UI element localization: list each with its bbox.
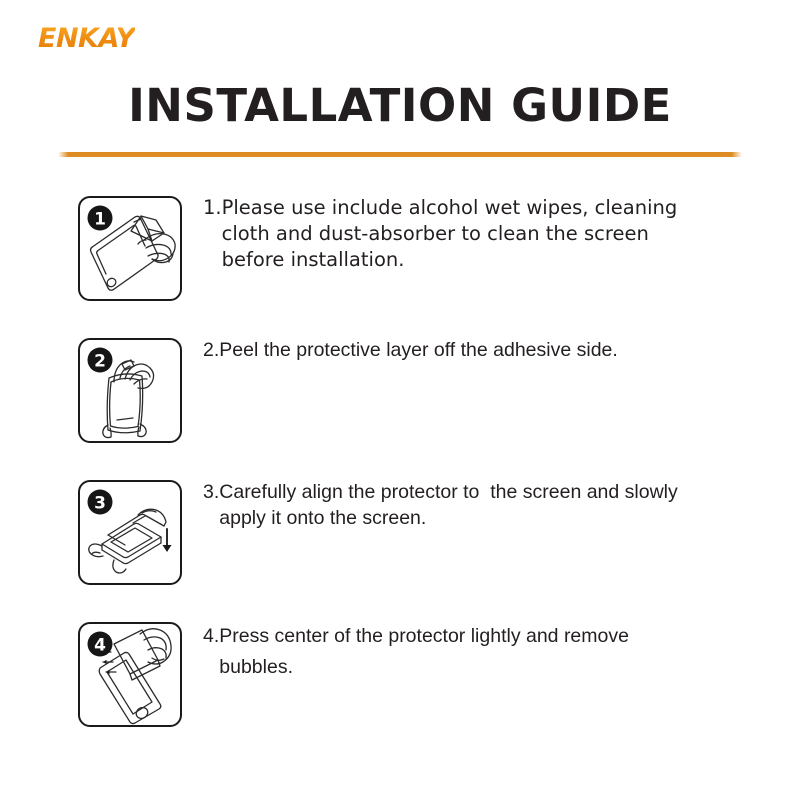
peel-protective-layer-icon: 2	[78, 338, 182, 443]
step-description-2: 2.Peel the protective layer off the adhe…	[203, 337, 763, 363]
brand-logo: ENKAY	[38, 25, 135, 52]
step-number-badge-1: 1	[88, 206, 113, 231]
step-description-1: 1.Please use include alcohol wet wipes, …	[203, 195, 763, 273]
svg-text:3: 3	[94, 494, 106, 514]
clean-screen-with-wipe-icon: 1	[78, 196, 182, 301]
step-description-3: 3.Carefully align the protector to the s…	[203, 479, 778, 531]
step-number-badge-2: 2	[88, 348, 113, 373]
step-number-badge-3: 3	[88, 490, 113, 515]
step-description-4: 4.Press center of the protector lightly …	[203, 621, 763, 683]
svg-text:2: 2	[94, 352, 106, 372]
title-divider	[58, 152, 742, 157]
svg-text:4: 4	[94, 636, 106, 656]
page-title: INSTALLATION GUIDE	[0, 82, 800, 129]
step-number-badge-4: 4	[88, 632, 113, 657]
press-center-remove-bubbles-icon: 4	[78, 622, 182, 727]
align-protector-to-screen-icon: 3	[78, 480, 182, 585]
svg-text:1: 1	[94, 210, 106, 230]
